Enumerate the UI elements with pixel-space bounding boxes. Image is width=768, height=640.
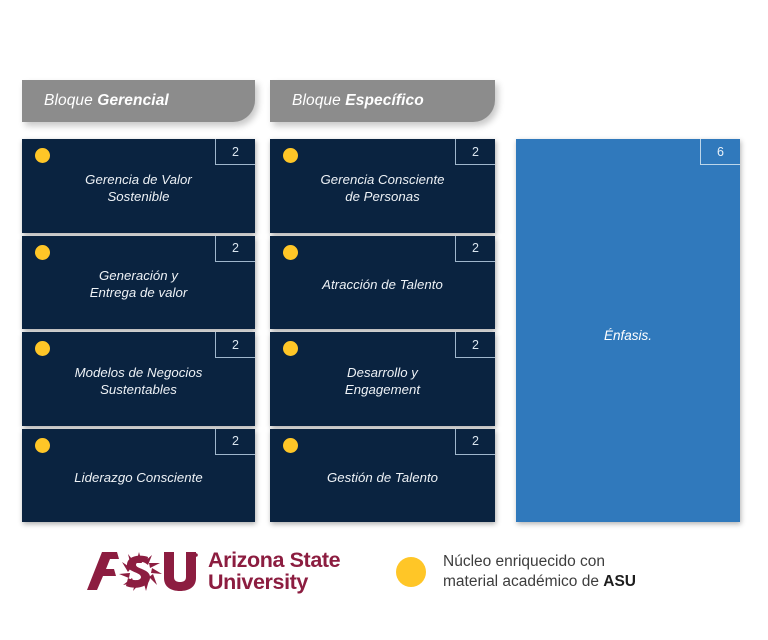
block-header-gerencial: Bloque Gerencial	[22, 80, 255, 122]
course-card[interactable]: 2 Generación yEntrega de valor	[22, 236, 255, 330]
asu-enriched-dot-icon	[283, 148, 298, 163]
course-card[interactable]: 2 Gestión de Talento	[270, 429, 495, 523]
legend-gold-dot-icon	[396, 557, 426, 587]
asu-enriched-dot-icon	[35, 438, 50, 453]
course-card[interactable]: 2 Atracción de Talento	[270, 236, 495, 330]
course-card[interactable]: 2 Modelos de NegociosSustentables	[22, 332, 255, 426]
block-header-gerencial-prefix: Bloque	[44, 92, 97, 109]
legend: Núcleo enriquecido con material académic…	[396, 552, 636, 592]
asu-enriched-dot-icon	[283, 245, 298, 260]
asu-enriched-dot-icon	[35, 245, 50, 260]
block-headers-row: Bloque Gerencial Bloque Específico	[0, 80, 768, 124]
course-title: Atracción de Talento	[322, 277, 443, 294]
credit-badge: 2	[455, 332, 495, 358]
course-card[interactable]: 2 Liderazgo Consciente	[22, 429, 255, 523]
course-title: Modelos de NegociosSustentables	[75, 365, 203, 399]
footer: Arizona State University Núcleo enriquec…	[0, 543, 768, 613]
asu-enriched-dot-icon	[35, 148, 50, 163]
block-header-especifico: Bloque Específico	[270, 80, 495, 122]
asu-wordmark-line2: University	[208, 571, 340, 593]
credit-badge: 2	[455, 139, 495, 165]
asu-wordmark-line1: Arizona State	[208, 549, 340, 571]
legend-line1: Núcleo enriquecido con	[443, 552, 636, 572]
block-header-gerencial-name: Gerencial	[97, 92, 169, 109]
block-header-especifico-text: Bloque Específico	[292, 92, 424, 110]
course-title: Gerencia de ValorSostenible	[85, 172, 192, 206]
legend-line2-asu: ASU	[603, 573, 636, 590]
course-card[interactable]: 2 Desarrollo yEngagement	[270, 332, 495, 426]
emphasis-title: Énfasis.	[604, 328, 652, 343]
block-header-especifico-name: Específico	[345, 92, 424, 109]
asu-enriched-dot-icon	[283, 438, 298, 453]
block-header-especifico-prefix: Bloque	[292, 92, 345, 109]
asu-wordmark: Arizona State University	[208, 549, 340, 593]
legend-line2-prefix: material académico de	[443, 573, 603, 590]
credit-badge: 2	[455, 429, 495, 455]
legend-text: Núcleo enriquecido con material académic…	[443, 552, 636, 592]
course-title: Gerencia Conscientede Personas	[320, 172, 444, 206]
asu-enriched-dot-icon	[35, 341, 50, 356]
credit-badge: 2	[455, 236, 495, 262]
legend-line2: material académico de ASU	[443, 572, 636, 592]
course-title: Liderazgo Consciente	[74, 470, 203, 487]
block-header-gerencial-text: Bloque Gerencial	[44, 92, 169, 110]
asu-logo: Arizona State University	[86, 549, 340, 593]
credit-badge: 2	[215, 236, 255, 262]
asu-enriched-dot-icon	[283, 341, 298, 356]
course-card[interactable]: 2 Gerencia de ValorSostenible	[22, 139, 255, 233]
asu-sunburst-logo-icon	[86, 550, 198, 592]
emphasis-panel[interactable]: 6 Énfasis.	[516, 139, 740, 522]
credit-badge: 2	[215, 332, 255, 358]
course-column-gerencial: 2 Gerencia de ValorSostenible 2 Generaci…	[22, 139, 255, 522]
course-card[interactable]: 2 Gerencia Conscientede Personas	[270, 139, 495, 233]
credit-badge: 2	[215, 429, 255, 455]
credit-badge: 6	[700, 139, 740, 165]
course-title: Generación yEntrega de valor	[90, 268, 188, 302]
course-title: Gestión de Talento	[327, 470, 438, 487]
course-column-especifico: 2 Gerencia Conscientede Personas 2 Atrac…	[270, 139, 495, 522]
course-title: Desarrollo yEngagement	[345, 365, 420, 399]
credit-badge: 2	[215, 139, 255, 165]
